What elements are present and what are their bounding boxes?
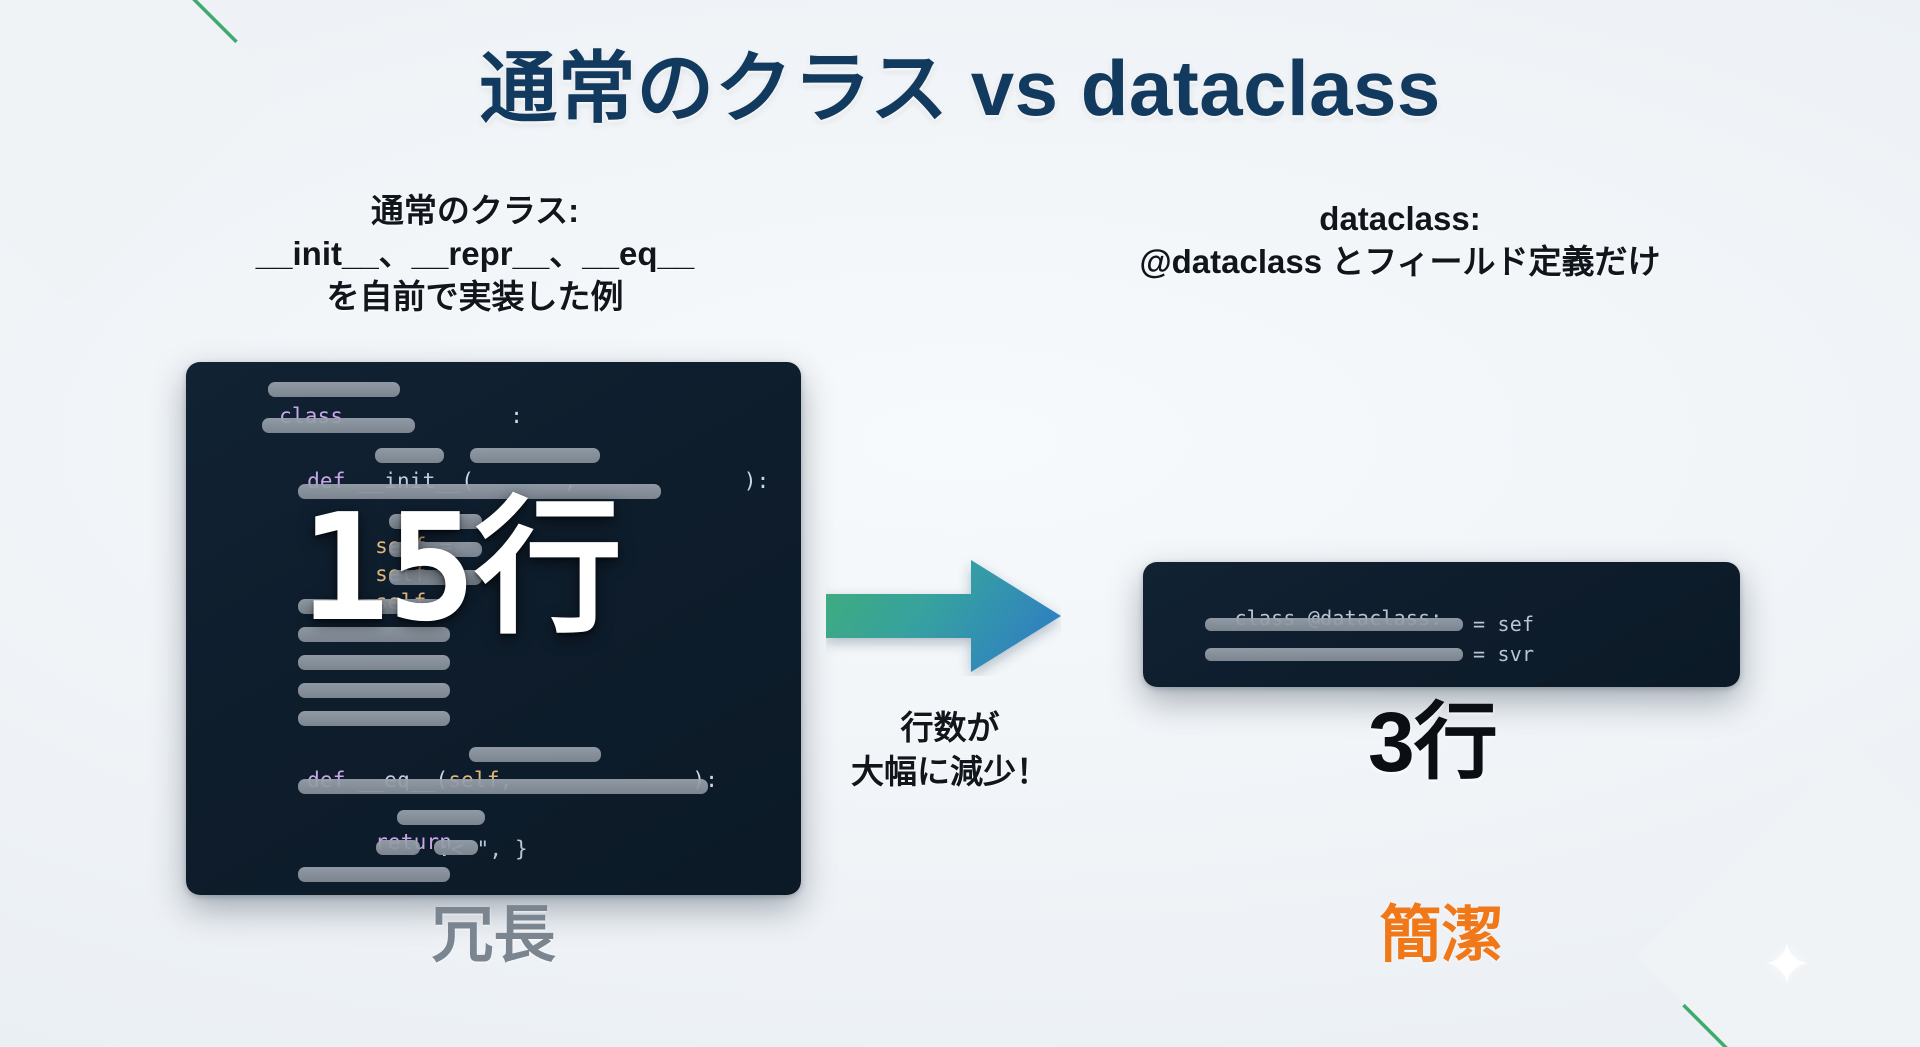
left-bottom-label: 冗長 [186, 905, 801, 967]
right-caption-line-2: @dataclass とフィールド定義だけ [1010, 241, 1790, 284]
redaction-bar [298, 655, 450, 670]
left-caption-line-1: 通常のクラス: [155, 190, 795, 233]
redaction-bar [469, 747, 601, 762]
dataclass-field-2: = svr [1473, 642, 1534, 666]
redaction-bar [268, 382, 400, 397]
redaction-bar [262, 418, 415, 433]
arrow-label-line-2: 大幅に減少！ [820, 750, 1080, 794]
arrow-label-line-1: 行数が [820, 706, 1080, 750]
left-caption: 通常のクラス: __init__、__repr__、__eq__ を自前で実装し… [155, 190, 795, 319]
corner-band-background [1637, 747, 1920, 1047]
dataclass-code-block: class @dataclass: = sef = svr [1143, 562, 1740, 687]
slide-root: ✦ 通常のクラス vs dataclass 通常のクラス: __init__、_… [0, 0, 1920, 1047]
token-close-paren: ): [744, 469, 770, 493]
redaction-bar [1205, 648, 1463, 661]
left-line-count: 15行 [300, 494, 620, 642]
redaction-bar [298, 867, 450, 882]
corner-decoration-bottom-right [1620, 747, 1920, 1047]
redaction-bar [376, 840, 420, 855]
arrow-shape [826, 560, 1061, 672]
redaction-bar [298, 779, 708, 794]
right-line-count: 3行 [1368, 700, 1497, 784]
page-title: 通常のクラス vs dataclass [0, 26, 1920, 138]
redaction-bar [397, 810, 485, 825]
right-caption: dataclass: @dataclass とフィールド定義だけ [1010, 198, 1790, 284]
right-caption-line-1: dataclass: [1010, 198, 1790, 241]
token-colon: : [510, 404, 523, 428]
arrow-label: 行数が 大幅に減少！ [820, 706, 1080, 793]
redaction-bar [434, 840, 478, 855]
sparkle-icon: ✦ [1762, 935, 1812, 995]
redaction-bar [298, 711, 450, 726]
redaction-bar [1205, 618, 1463, 631]
right-bottom-label: 簡潔 [1143, 905, 1740, 967]
redaction-bar [470, 448, 600, 463]
verbose-class-code-block: class : def __init__( , ): self = self =… [186, 362, 801, 895]
left-caption-line-3: を自前で実装した例 [155, 276, 795, 319]
left-caption-line-2: __init__、__repr__、__eq__ [155, 233, 795, 276]
transition-arrow [826, 556, 1061, 676]
dataclass-field-1: = sef [1473, 612, 1534, 636]
redaction-bar [298, 683, 450, 698]
redaction-bar [375, 448, 444, 463]
